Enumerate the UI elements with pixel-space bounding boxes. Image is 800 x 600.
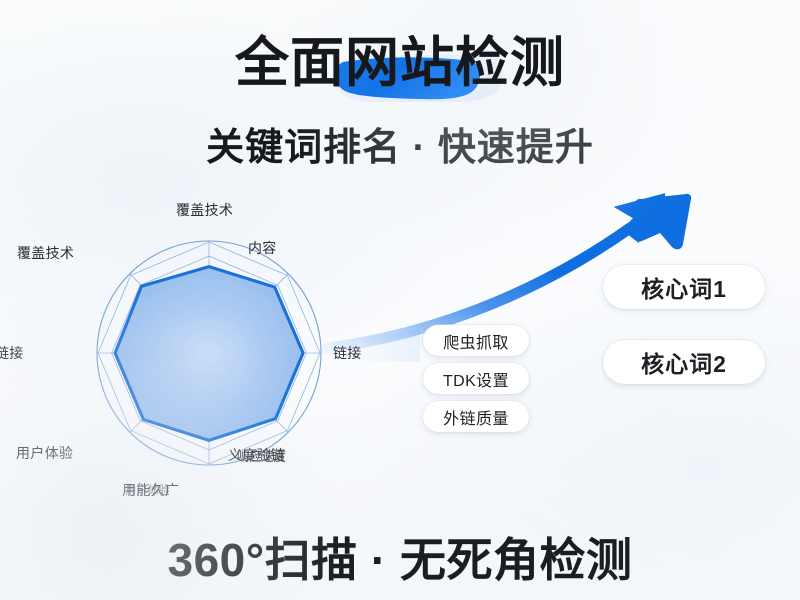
radar-label-bottom-overlay: 用户体验 <box>125 481 170 499</box>
radar-label-top-right: 内容 <box>248 238 277 258</box>
radar-label-left: 链接 <box>0 343 24 363</box>
core-word-pill-2[interactable]: 核心词2 <box>603 340 765 384</box>
tag-pill-crawler[interactable]: 爬虫抓取 <box>423 325 529 356</box>
page-title-part-highlight: 网站 <box>345 33 455 93</box>
core-word-pill-1[interactable]: 核心词1 <box>603 265 765 309</box>
radar-data-polygon <box>115 267 303 441</box>
radar-label-bottom-right-overlay: 响应速度 <box>237 446 287 466</box>
tag-pill-backlink[interactable]: 外链质量 <box>423 401 529 432</box>
tag-pill-backlink-label: 外链质量 <box>443 405 509 429</box>
radar-label-top: 覆盖技术 <box>176 200 233 220</box>
tag-pill-tdk-label: TDK设置 <box>443 367 509 391</box>
page-title: 全面网站检测 <box>235 36 565 90</box>
radar-label-right: 链接 <box>333 343 362 363</box>
radar-label-bottom-right: 义度验链 响应速度 <box>228 445 285 465</box>
radar-label-bottom: 用能久广 用户体验 <box>122 480 179 500</box>
core-word-pill-1-label: 核心词1 <box>641 270 727 304</box>
page-title-part-before: 全面 <box>235 33 345 93</box>
radar-label-top-left: 覆盖技术 <box>17 243 74 263</box>
headline-block: 全面网站检测 <box>0 36 800 90</box>
poster-canvas: 全面网站检测 关键词排名 · 快速提升 <box>0 0 800 600</box>
page-title-part-after: 检测 <box>455 33 565 93</box>
core-word-pill-2-label: 核心词2 <box>641 345 727 379</box>
tag-pill-crawler-label: 爬虫抓取 <box>443 329 509 353</box>
page-subtitle: 关键词排名 · 快速提升 <box>0 116 800 171</box>
tag-pill-tdk[interactable]: TDK设置 <box>423 363 529 394</box>
radar-chart: 覆盖技术 内容 链接 义度验链 响应速度 用能久广 用户体验 用户体验 链接 覆… <box>0 190 420 520</box>
footer-headline: 360°扫描 · 无死角检测 <box>0 524 800 590</box>
radar-label-bottom-left: 用户体验 <box>16 443 73 463</box>
